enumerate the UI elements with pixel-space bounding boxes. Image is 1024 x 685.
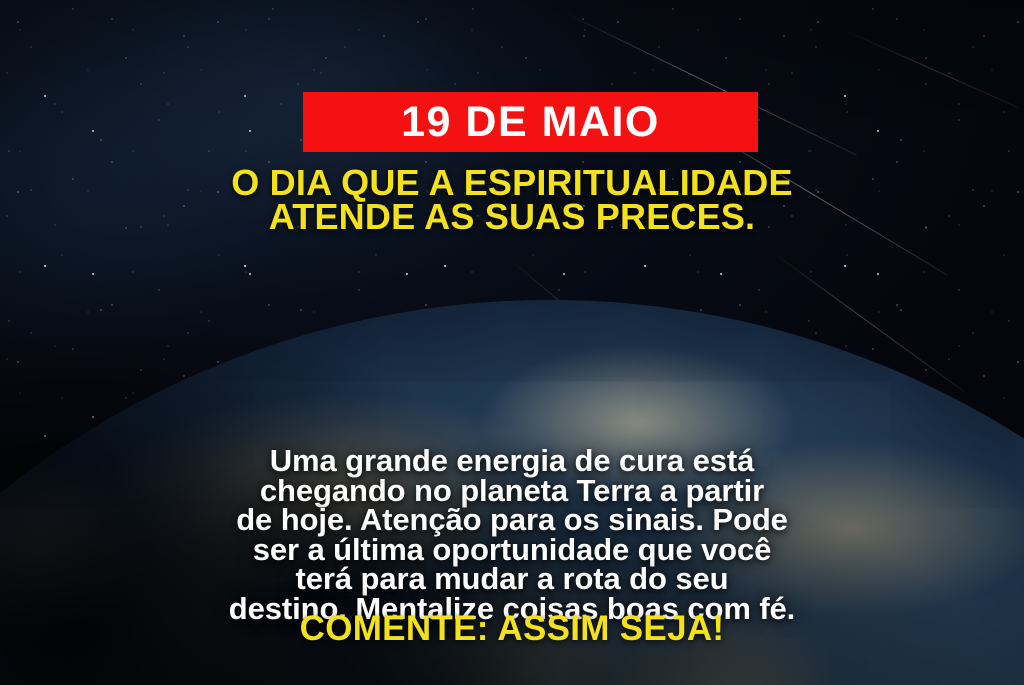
- body-line-2: chegando no planeta Terra a partir: [38, 476, 986, 506]
- body-line-5: terá para mudar a rota do seu: [38, 564, 986, 594]
- headline: O DIA QUE A ESPIRITUALIDADE ATENDE AS SU…: [0, 166, 1024, 234]
- headline-line-1: O DIA QUE A ESPIRITUALIDADE: [0, 166, 1024, 200]
- body-line-1: Uma grande energia de cura está: [38, 446, 986, 476]
- call-to-action: COMENTE: ASSIM SEJA!: [0, 611, 1024, 646]
- poster-content: 19 DE MAIO O DIA QUE A ESPIRITUALIDADE A…: [0, 0, 1024, 685]
- body-copy: Uma grande energia de cura está chegando…: [38, 446, 986, 623]
- date-banner-label: 19 DE MAIO: [401, 101, 660, 144]
- headline-line-2: ATENDE AS SUAS PRECES.: [0, 200, 1024, 234]
- date-banner: 19 DE MAIO: [303, 92, 758, 152]
- body-line-4: ser a última oportunidade que você: [38, 535, 986, 565]
- poster-canvas: 19 DE MAIO O DIA QUE A ESPIRITUALIDADE A…: [0, 0, 1024, 685]
- body-line-3: de hoje. Atenção para os sinais. Pode: [38, 505, 986, 535]
